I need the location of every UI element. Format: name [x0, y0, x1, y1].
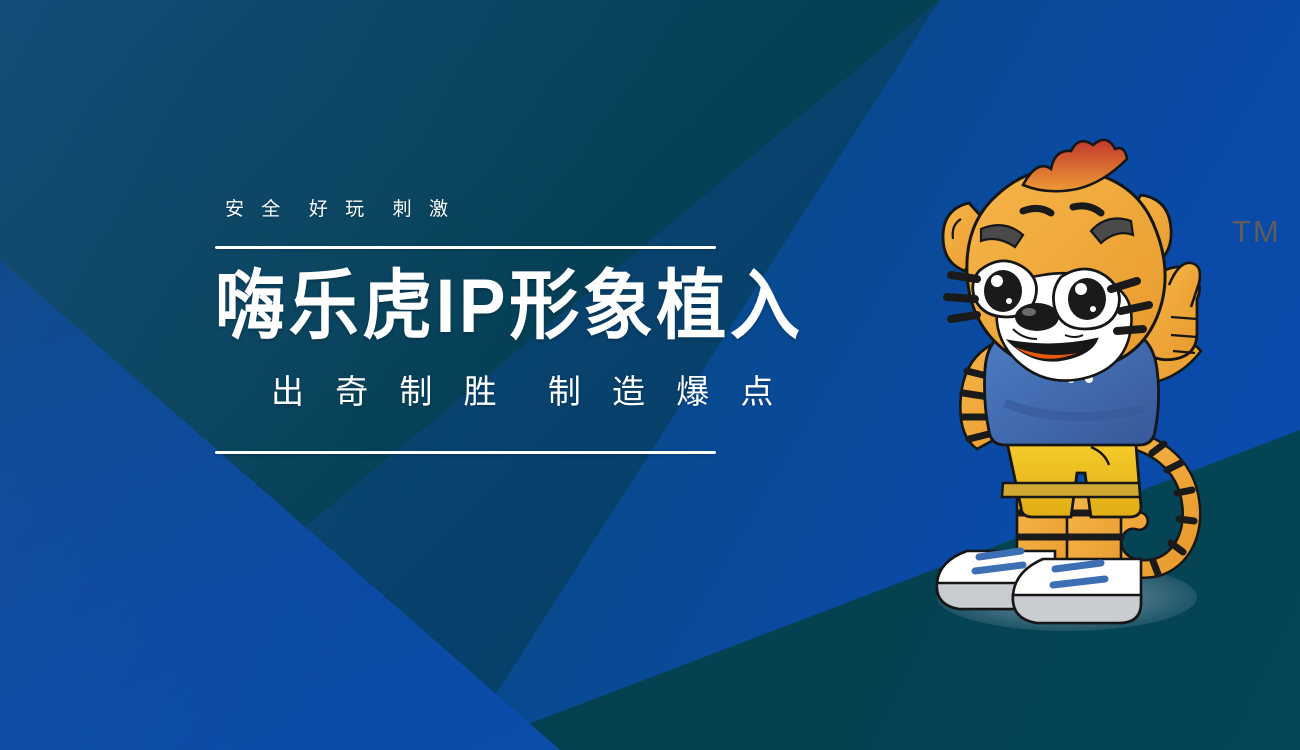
trademark-mark: TM [1232, 216, 1281, 247]
divider-top [215, 246, 716, 249]
tiger-nose [1015, 303, 1059, 331]
tagline: 安 全 好 玩 刺 激 [215, 200, 995, 219]
divider-bottom [215, 451, 716, 454]
tiger-mascot-illustration [905, 165, 1235, 645]
tiger-head [943, 140, 1171, 381]
headline-group: 安 全 好 玩 刺 激 嗨乐虎IP形象植入 出 奇 制 胜 制 造 爆 点 [215, 200, 995, 454]
banner-canvas: 安 全 好 玩 刺 激 嗨乐虎IP形象植入 出 奇 制 胜 制 造 爆 点 TM [0, 0, 1300, 750]
subtitle: 出 奇 制 胜 制 造 爆 点 [215, 375, 995, 408]
page-title: 嗨乐虎IP形象植入 [215, 268, 933, 346]
